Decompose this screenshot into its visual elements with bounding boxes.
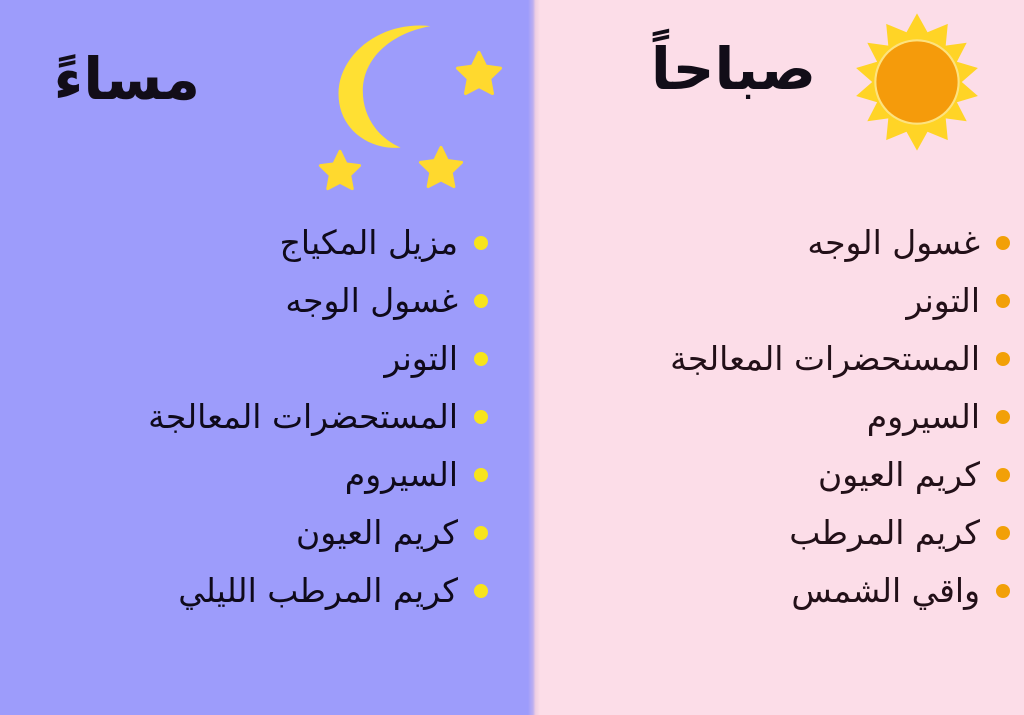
star-icon (318, 148, 362, 192)
bullet-icon (996, 294, 1010, 308)
list-item-label: التونر (384, 341, 458, 377)
list-item-label: كريم المرطب (789, 515, 980, 551)
list-item-label: غسول الوجه (285, 283, 458, 319)
list-item[interactable]: التونر (554, 272, 1010, 330)
list-item[interactable]: المستحضرات المعالجة (554, 330, 1010, 388)
list-item[interactable]: غسول الوجه (554, 214, 1010, 272)
list-item[interactable]: كريم المرطب (554, 504, 1010, 562)
bullet-icon (474, 584, 488, 598)
list-item-label: كريم العيون (296, 515, 458, 551)
panel-morning: صباحاً غسول الوجه التونر المستحضرات المع… (534, 0, 1024, 715)
list-item-label: كريم العيون (818, 457, 980, 493)
list-item-label: كريم المرطب الليلي (178, 573, 458, 609)
bullet-icon (474, 410, 488, 424)
bullet-icon (474, 352, 488, 366)
bullet-icon (474, 236, 488, 250)
bullet-icon (474, 468, 488, 482)
list-item-label: مزيل المكياج (280, 225, 458, 261)
crescent-moon-icon (325, 18, 460, 153)
list-item[interactable]: واقي الشمس (554, 562, 1010, 620)
list-item-label: السيروم (867, 399, 980, 435)
bullet-icon (474, 526, 488, 540)
list-item[interactable]: كريم العيون (554, 446, 1010, 504)
list-item[interactable]: المستحضرات المعالجة (20, 388, 488, 446)
morning-header: صباحاً (534, 0, 1024, 200)
list-item[interactable]: السيروم (554, 388, 1010, 446)
list-item[interactable]: كريم المرطب الليلي (20, 562, 488, 620)
list-item-label: المستحضرات المعالجة (670, 341, 980, 377)
morning-title: صباحاً (651, 40, 816, 98)
star-icon (418, 144, 464, 190)
sun-icon (847, 12, 987, 152)
skincare-routine-poster: مساءً مزيل المكياج غسول ال (0, 0, 1024, 715)
list-item-label: السيروم (345, 457, 458, 493)
panel-evening: مساءً مزيل المكياج غسول ال (0, 0, 536, 715)
list-item-label: التونر (906, 283, 980, 319)
bullet-icon (474, 294, 488, 308)
list-item-label: غسول الوجه (807, 225, 980, 261)
bullet-icon (996, 584, 1010, 598)
list-item-label: المستحضرات المعالجة (148, 399, 458, 435)
list-item[interactable]: التونر (20, 330, 488, 388)
bullet-icon (996, 352, 1010, 366)
list-item[interactable]: مزيل المكياج (20, 214, 488, 272)
star-icon (455, 49, 503, 97)
morning-routine-list: غسول الوجه التونر المستحضرات المعالجة ال… (554, 214, 1010, 620)
evening-title: مساءً (54, 50, 200, 108)
bullet-icon (996, 236, 1010, 250)
bullet-icon (996, 468, 1010, 482)
bullet-icon (996, 410, 1010, 424)
evening-routine-list: مزيل المكياج غسول الوجه التونر المستحضرا… (20, 214, 488, 620)
list-item-label: واقي الشمس (791, 573, 980, 609)
list-item[interactable]: كريم العيون (20, 504, 488, 562)
list-item[interactable]: غسول الوجه (20, 272, 488, 330)
bullet-icon (996, 526, 1010, 540)
evening-header: مساءً (0, 0, 536, 200)
list-item[interactable]: السيروم (20, 446, 488, 504)
